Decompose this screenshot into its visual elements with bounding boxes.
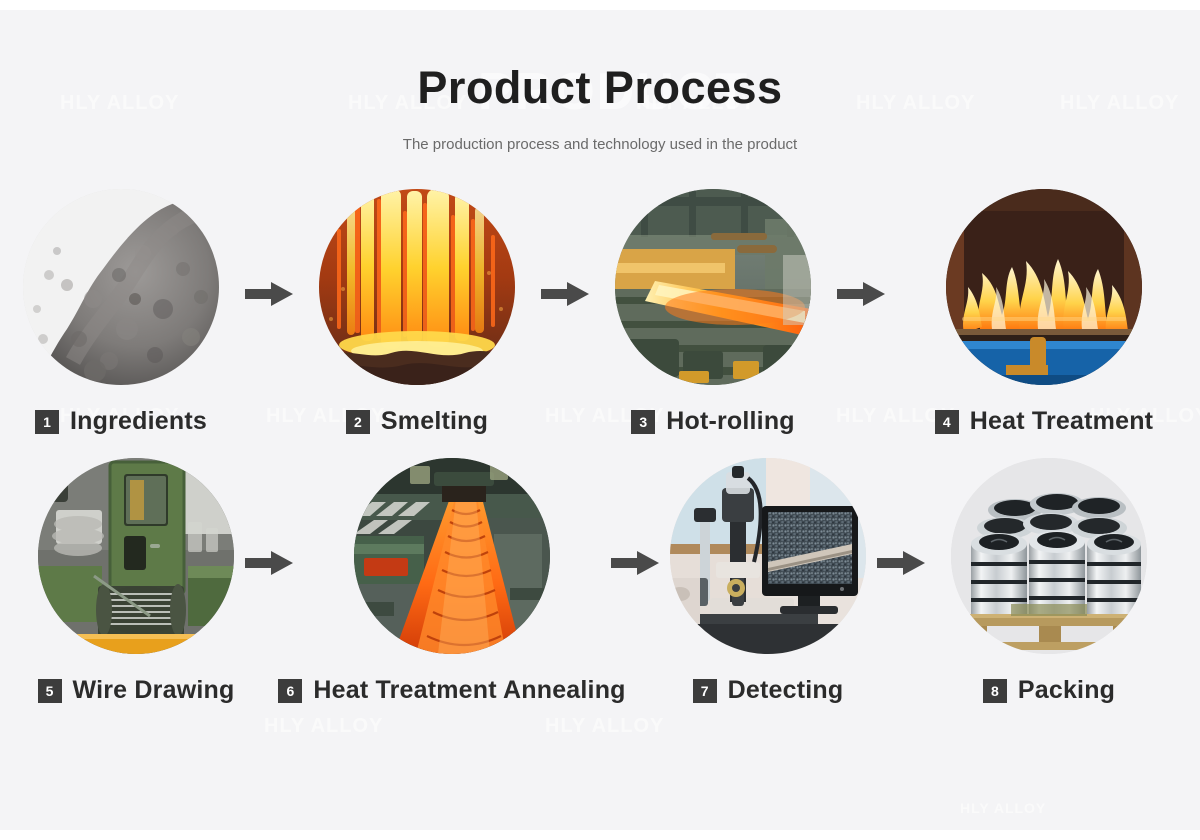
step-image-wire-drawing <box>38 458 234 654</box>
process-row-2: 5 Wire Drawing <box>0 458 1200 705</box>
step-number-badge: 1 <box>35 410 59 434</box>
step-number-badge: 6 <box>278 679 302 703</box>
step-caption-3: 3 Hot-rolling <box>631 407 795 436</box>
step-caption-1: 1 Ingredients <box>35 407 207 436</box>
process-row-1: 1 Ingredients <box>0 189 1200 436</box>
step-label: Heat Treatment <box>970 407 1153 436</box>
step-number-badge: 7 <box>693 679 717 703</box>
watermark-text: HLY ALLOY <box>960 800 1046 816</box>
step-caption-7: 7 Detecting <box>693 676 844 705</box>
step-caption-8: 8 Packing <box>983 676 1115 705</box>
arrow-2-to-3 <box>532 189 598 399</box>
arrow-5-to-6 <box>236 458 302 668</box>
watermark-text: HLY ALLOY <box>264 715 383 738</box>
process-step-7[interactable]: 7 Detecting <box>668 458 868 705</box>
step-label: Smelting <box>381 407 488 436</box>
step-label: Detecting <box>728 676 844 705</box>
arrow-right-icon <box>245 280 293 308</box>
step-number-badge: 8 <box>983 679 1007 703</box>
arrow-3-to-4 <box>828 189 894 399</box>
step-image-heat-treatment <box>946 189 1142 385</box>
process-step-5[interactable]: 5 Wire Drawing <box>36 458 236 705</box>
step-number-badge: 5 <box>38 679 62 703</box>
step-image-annealing <box>354 458 550 654</box>
arrow-right-icon <box>877 549 925 577</box>
step-image-hot-rolling <box>615 189 811 385</box>
page-subtitle: The production process and technology us… <box>0 136 1200 153</box>
arrow-1-to-2 <box>236 189 302 399</box>
step-number-badge: 2 <box>346 410 370 434</box>
process-steps: 1 Ingredients <box>0 189 1200 705</box>
step-image-smelting <box>319 189 515 385</box>
step-caption-2: 2 Smelting <box>346 407 488 436</box>
watermark-text: HLY ALLOY <box>545 715 664 738</box>
step-caption-5: 5 Wire Drawing <box>38 676 235 705</box>
process-step-8[interactable]: 8 Packing <box>934 458 1164 705</box>
process-step-2[interactable]: 2 Smelting <box>302 189 532 436</box>
step-number-badge: 3 <box>631 410 655 434</box>
arrow-6-to-7 <box>602 458 668 668</box>
arrow-right-icon <box>541 280 589 308</box>
process-step-4[interactable]: 4 Heat Treatment <box>894 189 1194 436</box>
step-label: Wire Drawing <box>73 676 235 705</box>
step-label: Hot-rolling <box>666 407 795 436</box>
process-step-6[interactable]: 6 Heat Treatment Annealing <box>302 458 602 705</box>
process-step-3[interactable]: 3 Hot-rolling <box>598 189 828 436</box>
step-caption-6: 6 Heat Treatment Annealing <box>278 676 625 705</box>
product-process-page: PRODUCT HLY ALLOY HLY ALLOY HLY ALLOY HL… <box>0 10 1200 830</box>
arrow-right-icon <box>611 549 659 577</box>
step-image-packing <box>951 458 1147 654</box>
step-number-badge: 4 <box>935 410 959 434</box>
step-label: Packing <box>1018 676 1115 705</box>
page-header: Product Process The production process a… <box>0 10 1200 153</box>
step-image-detecting <box>670 458 866 654</box>
arrow-right-icon <box>245 549 293 577</box>
arrow-7-to-8 <box>868 458 934 668</box>
arrow-right-icon <box>837 280 885 308</box>
step-image-ingredients <box>23 189 219 385</box>
step-label: Ingredients <box>70 407 207 436</box>
page-title: Product Process <box>0 62 1200 114</box>
process-step-1[interactable]: 1 Ingredients <box>6 189 236 436</box>
step-caption-4: 4 Heat Treatment <box>935 407 1153 436</box>
step-label: Heat Treatment Annealing <box>313 676 625 705</box>
